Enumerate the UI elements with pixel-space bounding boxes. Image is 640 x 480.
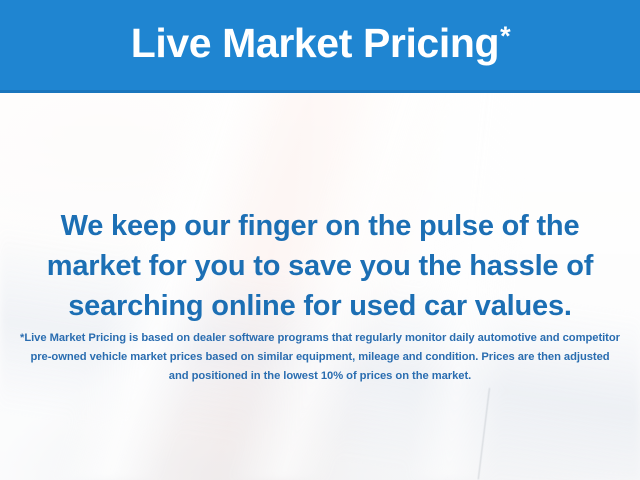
header-banner: Live Market Pricing* [0,0,640,93]
disclaimer-text: *Live Market Pricing is based on dealer … [20,329,620,386]
page-title-text: Live Market Pricing [131,20,499,66]
page-title: Live Market Pricing* [131,23,509,64]
headline-text: We keep our finger on the pulse of the m… [20,206,620,326]
content-area: We keep our finger on the pulse of the m… [0,93,640,480]
live-market-pricing-promo-card: Live Market Pricing* We keep our finger … [0,0,640,480]
page-title-asterisk: * [500,21,510,51]
